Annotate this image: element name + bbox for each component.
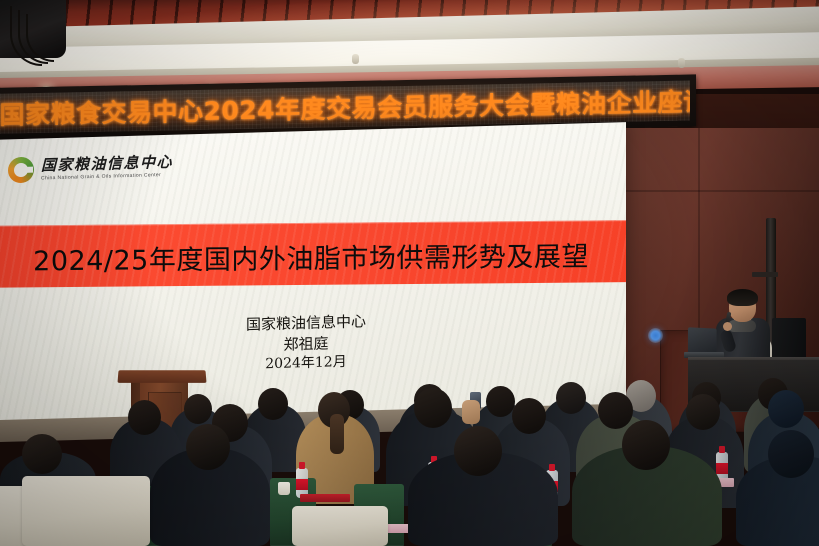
slide-title: 2024/25年度国内外油脂市场供需形势及展望	[0, 224, 626, 288]
laptop-screen	[688, 327, 717, 354]
podium-top	[117, 370, 206, 383]
speaker-hand	[723, 322, 732, 331]
logo-chinese-name: 国家粮油信息中心	[41, 154, 173, 173]
pendant-light-icon	[352, 54, 359, 64]
audience-head	[186, 424, 230, 470]
pendant-light-icon	[678, 58, 685, 68]
audience-head	[598, 392, 633, 429]
audience-head	[454, 426, 502, 476]
bottle-label	[296, 479, 308, 490]
audience-head	[768, 390, 804, 428]
speaker-stand-bracket	[752, 272, 778, 277]
wall-seam	[620, 190, 819, 192]
slide-byline: 国家粮油信息中心 郑祖庭 2024年12月	[0, 304, 626, 383]
audience-head	[184, 394, 212, 424]
audience-head	[414, 388, 452, 428]
conference-photo: 汉国家粮食交易中心2024年度交易会员服务大会暨粮油企业座谈会 国家粮油信息中心…	[0, 0, 819, 546]
audience-head	[556, 382, 586, 414]
pointer-cursor-icon	[648, 328, 663, 343]
audience-head	[258, 388, 288, 420]
paper-cup[interactable]	[278, 482, 290, 495]
audience-ponytail	[330, 414, 344, 454]
red-folder[interactable]	[300, 494, 350, 502]
audience-head	[622, 420, 670, 470]
front-sofa-seat[interactable]	[292, 506, 388, 546]
front-sofa-seat[interactable]	[22, 476, 150, 546]
audience-head	[22, 434, 62, 474]
monitor-rear	[772, 318, 806, 360]
bottle-label	[716, 463, 728, 474]
slide-logo: 国家粮油信息中心 China National Grain & Oils Inf…	[8, 153, 173, 184]
speaker-hair	[727, 289, 758, 306]
audience-head	[128, 400, 161, 435]
audience-head	[512, 398, 546, 434]
audience-head	[686, 394, 720, 430]
logo-english-name: China National Grain & Oils Information …	[41, 172, 173, 181]
audience-raised-hand	[462, 400, 480, 424]
audience-head	[768, 430, 814, 478]
audience-head	[486, 386, 515, 417]
grain-center-logo-icon	[8, 157, 34, 184]
projection-screen: 国家粮油信息中心 China National Grain & Oils Inf…	[0, 122, 626, 422]
